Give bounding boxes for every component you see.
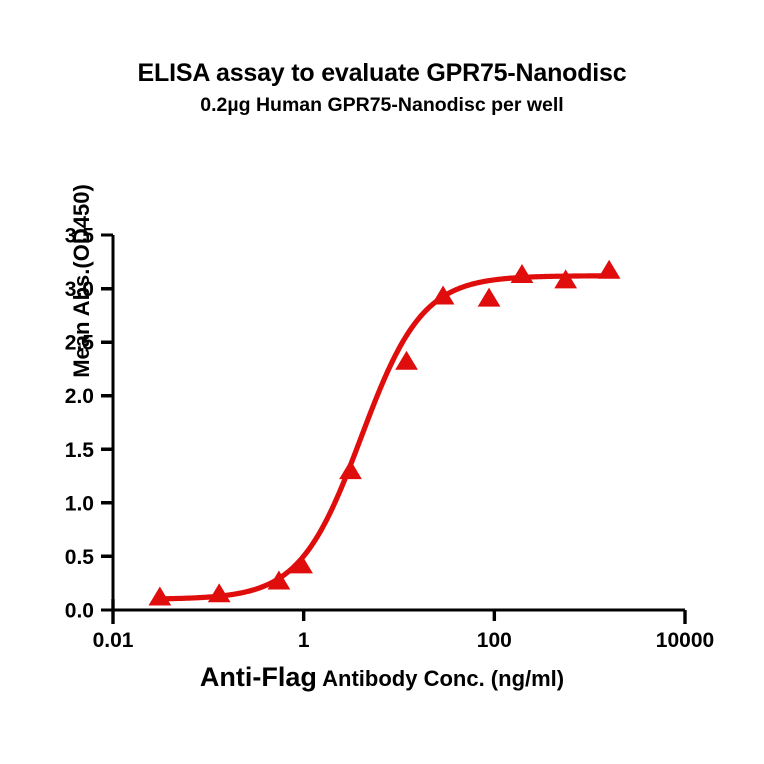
data-point-marker [555, 270, 576, 288]
y-tick-label: 2.5 [65, 332, 95, 355]
y-tick-label: 3.5 [65, 225, 95, 248]
y-tick-label: 0.0 [65, 600, 94, 623]
x-tick-label: 1 [298, 629, 310, 652]
data-point-marker [396, 352, 417, 370]
y-tick-label: 1.5 [65, 439, 95, 462]
data-markers [149, 261, 619, 605]
y-tick-label: 0.5 [65, 546, 95, 569]
x-tick-label: 10000 [656, 629, 714, 652]
fit-curve [160, 276, 609, 599]
x-axis-ticks: 0.01110010000 [93, 599, 715, 652]
x-tick-label: 0.01 [93, 629, 134, 652]
chart-figure: ELISA assay to evaluate GPR75-Nanodisc 0… [0, 0, 764, 764]
axes [113, 235, 685, 610]
y-tick-label: 2.0 [65, 385, 94, 408]
data-point-marker [479, 289, 500, 307]
data-point-marker [599, 261, 620, 279]
y-tick-label: 3.0 [65, 278, 94, 301]
data-point-marker [340, 461, 361, 479]
y-axis-ticks: 0.00.51.01.52.02.53.03.5 [65, 225, 113, 623]
data-point-marker [511, 265, 532, 283]
plot-area: 0.00.51.01.52.02.53.03.5 0.01110010000 [0, 0, 764, 764]
y-tick-label: 1.0 [65, 492, 94, 515]
x-tick-label: 100 [477, 629, 512, 652]
